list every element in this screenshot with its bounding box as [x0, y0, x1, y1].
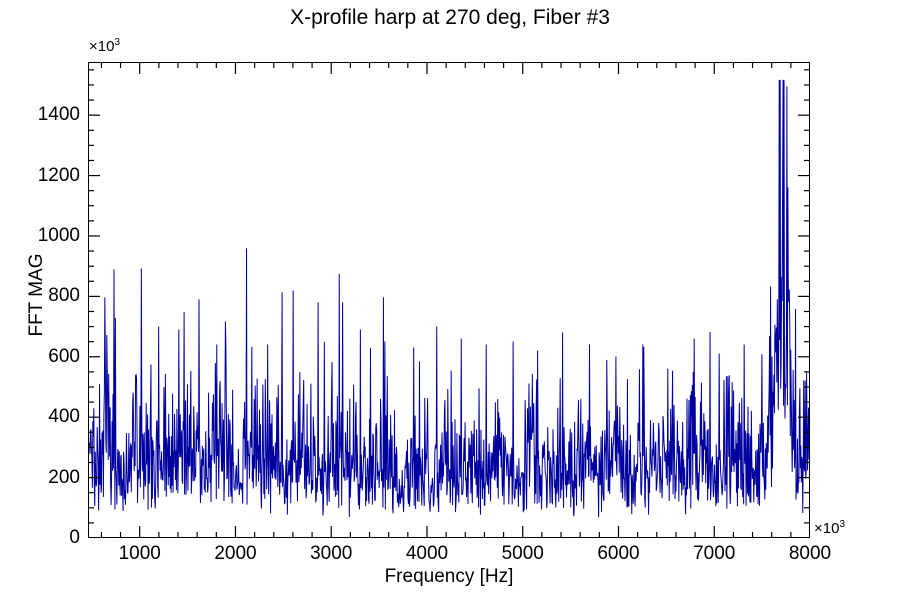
x-exponent-power: 3: [839, 519, 845, 530]
y-axis-exponent-label: ×103: [89, 35, 120, 54]
plot-area: [88, 62, 810, 538]
x-tick-label: 2000: [190, 544, 280, 563]
y-tick-label: 200: [8, 468, 80, 487]
x-axis-exponent-label: ×103: [814, 517, 845, 536]
y-axis-title: FFT MAG: [26, 225, 48, 365]
y-tick-label: 1200: [8, 166, 80, 185]
x-tick-label: 7000: [669, 544, 759, 563]
x-tick-label: 1000: [95, 544, 185, 563]
y-tick-label: 400: [8, 407, 80, 426]
page-title: X-profile harp at 270 deg, Fiber #3: [0, 6, 900, 30]
x-tick-label: 4000: [382, 544, 472, 563]
y-exponent-base: ×10: [89, 38, 114, 55]
x-tick-label: 8000: [765, 544, 855, 563]
y-tick-label: 1400: [8, 105, 80, 124]
x-tick-label: 6000: [573, 544, 663, 563]
y-tick-label: 0: [8, 528, 80, 547]
fft-spectrum-trace: [89, 63, 809, 537]
x-exponent-base: ×10: [814, 520, 839, 537]
x-tick-label: 5000: [478, 544, 568, 563]
x-axis-title: Frequency [Hz]: [88, 566, 810, 588]
chart-canvas: X-profile harp at 270 deg, Fiber #3 ×103…: [0, 0, 900, 600]
x-tick-label: 3000: [286, 544, 376, 563]
y-exponent-power: 3: [114, 37, 120, 48]
